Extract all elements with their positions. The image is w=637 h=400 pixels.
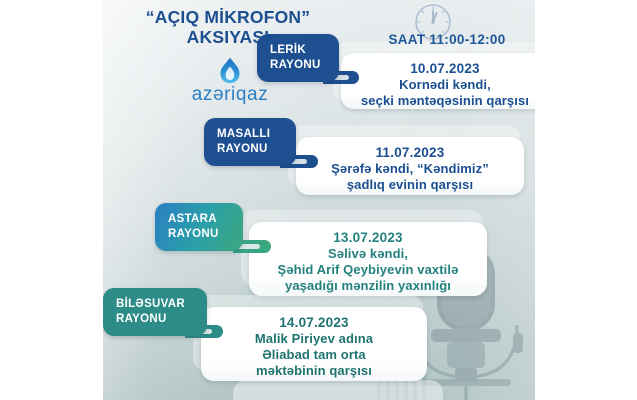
event-card-masalli: 11.07.2023 Şərəfə kəndi, “Kəndimiz” şadl… [296, 137, 524, 195]
page-title: “AÇIQ MİKROFON” AKSIYASI [103, 7, 353, 47]
event-address-line-2: şadlıq evinin qarşısı [308, 177, 512, 193]
event-row-masalli: 11.07.2023 Şərəfə kəndi, “Kəndimiz” şadl… [204, 118, 524, 198]
flame-icon [125, 57, 335, 83]
event-address-line-1: Malik Piriyev adına [213, 331, 415, 347]
title-line-2: AKSIYASI [103, 27, 353, 47]
poster-canvas: “AÇIQ MİKROFON” AKSIYASI azəriqaz [103, 0, 535, 400]
region-badge-bilesuvar[interactable]: BİLƏSUVAR RAYONU [103, 288, 207, 336]
event-card-astara: 13.07.2023 Səlivə kəndi, Şəhid Arif Qeyb… [249, 222, 487, 296]
event-address-line-2: seçki məntəqəsinin qarşısı [353, 93, 535, 109]
event-row-bilesuvar: 14.07.2023 Malik Piriyev adına Əliabad t… [103, 288, 453, 380]
event-date: 14.07.2023 [213, 314, 415, 331]
event-address-line-1: Kornədi kəndi, [353, 77, 535, 93]
region-name-line-1: ASTARA [168, 212, 231, 227]
event-card-lerik: 10.07.2023 Kornədi kəndi, seçki məntəqəs… [341, 53, 535, 109]
region-name-line-2: RAYONU [168, 227, 231, 242]
region-name-line-2: RAYONU [116, 312, 195, 327]
next-card-peek [233, 380, 443, 400]
region-badge-astara[interactable]: ASTARA RAYONU [155, 203, 243, 251]
region-name-line-1: MASALLI [217, 127, 284, 142]
event-address-line-1: Şərəfə kəndi, “Kəndimiz” [308, 161, 512, 177]
event-date: 10.07.2023 [353, 60, 535, 77]
logo-wordmark: azəriqaz [125, 84, 335, 106]
event-address-line-1: Səlivə kəndi, [261, 246, 475, 262]
event-row-astara: 13.07.2023 Səlivə kəndi, Şəhid Arif Qeyb… [155, 203, 505, 295]
event-address-line-2: Şəhid Arif Qeybiyevin vaxtilə [261, 262, 475, 278]
time-label: SAAT 11:00-12:00 [367, 32, 527, 47]
region-name-line-1: BİLƏSUVAR [116, 297, 195, 312]
region-badge-masalli[interactable]: MASALLI RAYONU [204, 118, 296, 166]
event-card-bilesuvar: 14.07.2023 Malik Piriyev adına Əliabad t… [201, 307, 427, 381]
event-date: 13.07.2023 [261, 229, 475, 246]
event-address-line-2: Əliabad tam orta [213, 347, 415, 363]
title-line-1: “AÇIQ MİKROFON” [103, 7, 353, 27]
event-date: 11.07.2023 [308, 144, 512, 161]
region-name-line-2: RAYONU [217, 142, 284, 157]
event-address-line-3: məktəbinin qarşısı [213, 363, 415, 379]
azeriqaz-logo: azəriqaz [125, 57, 335, 106]
